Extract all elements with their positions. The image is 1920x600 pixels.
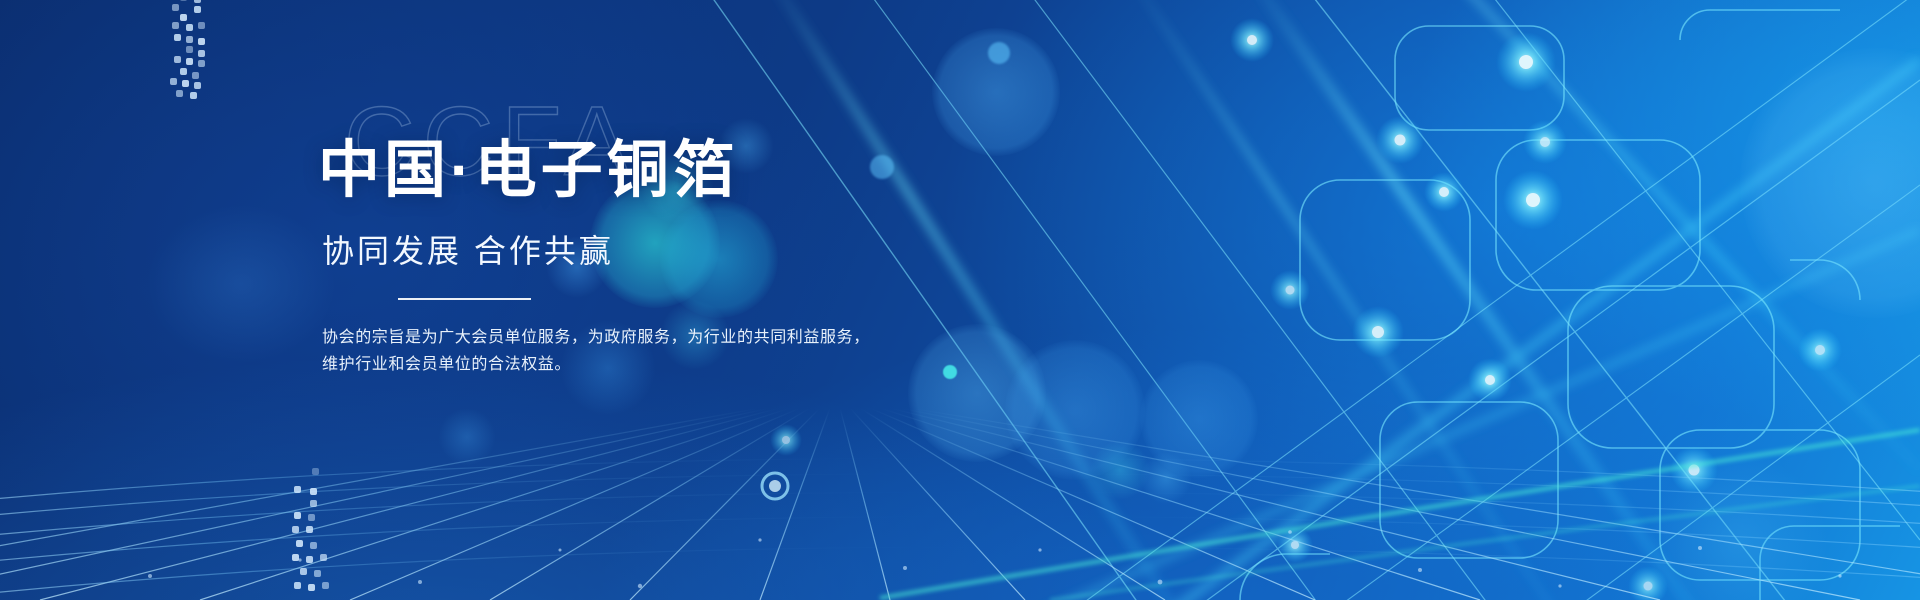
bokeh-circle [988,42,1010,64]
grid-highlight-node [762,473,788,499]
description-line: 维护行业和会员单位的合法权益。 [322,351,1178,379]
banner-content: CCFA 中国·电子铜箔 协同发展 合作共赢 协会的宗旨是为广大会员单位服务，为… [318,96,1178,379]
hero-banner: CCFA 中国·电子铜箔 协同发展 合作共赢 协会的宗旨是为广大会员单位服务，为… [0,0,1920,600]
perspective-grid [0,390,1920,600]
page-subtitle: 协同发展 合作共赢 [322,226,1178,272]
page-title: 中国·电子铜箔 [318,96,1178,204]
grid-radials [0,408,1920,600]
bokeh-circle [1740,48,1920,318]
bokeh-circle [146,204,336,364]
dot-matrix-top [168,0,210,104]
dot-matrix-bottom [292,468,338,600]
description: 协会的宗旨是为广大会员单位服务，为政府服务，为行业的共同利益服务， 维护行业和会… [322,324,1178,379]
description-line: 协会的宗旨是为广大会员单位服务，为政府服务，为行业的共同利益服务， [322,324,1178,352]
divider [398,298,531,300]
